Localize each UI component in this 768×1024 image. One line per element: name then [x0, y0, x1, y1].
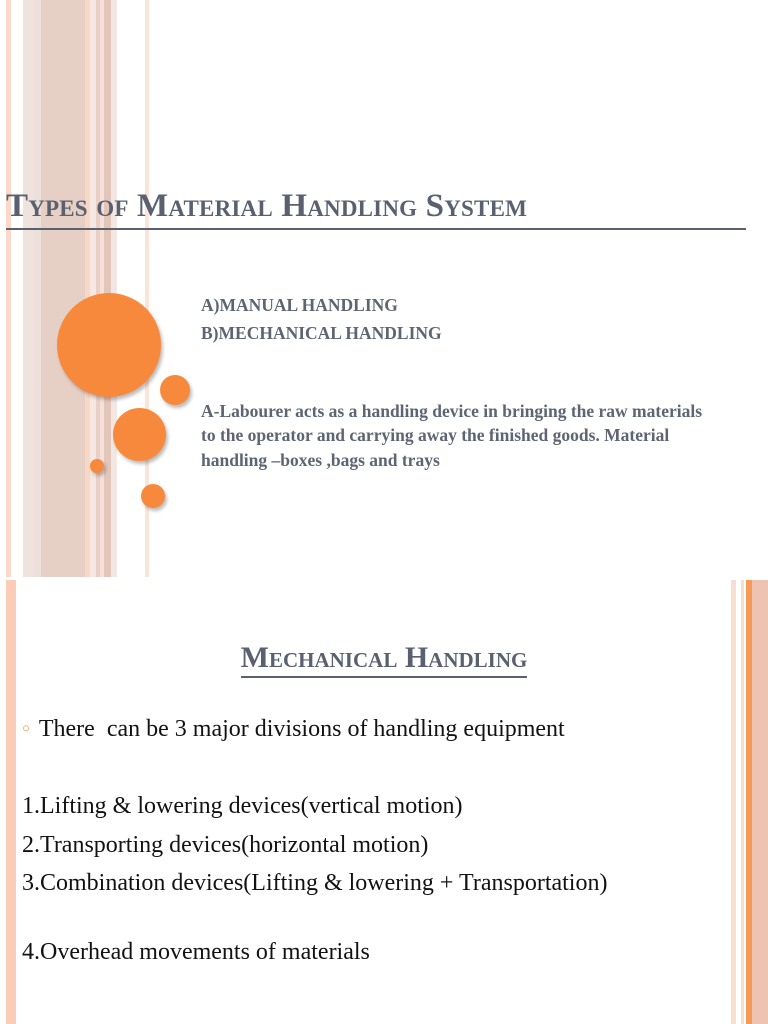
slide-2-bullet-line: ○ There can be 3 major divisions of hand…: [22, 713, 712, 745]
slide-1-title: Types of Material Handling System: [6, 186, 746, 230]
circle-bullet-icon: ○: [22, 713, 30, 743]
handling-type-list: A)MANUAL HANDLING B)MECHANICAL HANDLING: [201, 291, 442, 347]
slide-2-title-text: Mechanical Handling: [241, 641, 528, 678]
decor-stripe: [23, 0, 34, 577]
list-item: 3.Combination devices(Lifting & lowering…: [22, 864, 734, 903]
decor-stripe: [6, 0, 11, 577]
decor-circle-tiny: [90, 459, 104, 473]
list-item-overhead: 4.Overhead movements of materials: [22, 936, 370, 968]
handling-equipment-list: 1.Lifting & lowering devices(vertical mo…: [22, 787, 734, 903]
decor-circle-small-lower: [141, 484, 165, 508]
decor-stripe: [41, 0, 85, 577]
decor-circle-small-upper: [160, 375, 190, 405]
handling-type-item-b: B)MECHANICAL HANDLING: [201, 319, 442, 347]
slide-2-bullet-text: There can be 3 major divisions of handli…: [39, 713, 565, 745]
slide-2-title: Mechanical Handling: [0, 638, 768, 678]
slide-1: Types of Material Handling System A)MANU…: [0, 0, 768, 577]
slide-2: Mechanical Handling ○ There can be 3 maj…: [0, 580, 768, 1024]
decor-stripe: [34, 0, 41, 577]
decor-stripe: [111, 0, 117, 577]
presentation-deck: Types of Material Handling System A)MANU…: [0, 0, 768, 1024]
decor-circle-medium: [113, 408, 166, 461]
list-item: 1.Lifting & lowering devices(vertical mo…: [22, 787, 734, 826]
slide-1-body-text: A-Labourer acts as a handling device in …: [201, 399, 711, 473]
decor-stripe: [104, 0, 111, 577]
list-item: 2.Transporting devices(horizontal motion…: [22, 826, 734, 865]
handling-type-item-a: A)MANUAL HANDLING: [201, 291, 442, 319]
decor-circle-large: [57, 293, 161, 397]
